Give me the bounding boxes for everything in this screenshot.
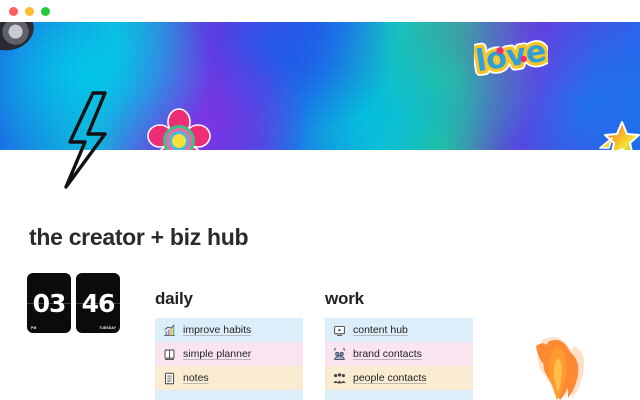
people-group-icon (333, 372, 346, 385)
flip-clock-minute: 46 TUESDAY (76, 273, 120, 333)
list-item-improve-habits[interactable]: improve habits (155, 318, 303, 342)
list-item-label: people contacts (353, 372, 427, 384)
flip-hinge (76, 303, 120, 304)
column-work: work content hub brand contacts (325, 289, 473, 400)
group-badge-icon (333, 348, 346, 361)
list-item-label: content hub (353, 324, 408, 336)
minimize-button[interactable] (25, 7, 34, 16)
chart-bar-icon (163, 324, 176, 337)
flame-graphic (512, 322, 616, 400)
flip-hinge (27, 303, 71, 304)
list-item-content-hub[interactable]: content hub (325, 318, 473, 342)
flip-clock-hour: 03 PM (27, 273, 71, 333)
close-button[interactable] (9, 7, 18, 16)
svg-text:love: love (474, 34, 548, 80)
page-title: the creator + biz hub (29, 224, 248, 251)
list-item-partial[interactable] (155, 390, 303, 400)
book-icon (163, 348, 176, 361)
list-item-people-contacts[interactable]: people contacts (325, 366, 473, 390)
flip-clock-weekday: TUESDAY (99, 326, 116, 330)
column-heading-daily: daily (155, 289, 303, 309)
flip-clock: 03 PM 46 TUESDAY (27, 273, 120, 333)
column-daily: daily improve habits simple planner (155, 289, 303, 400)
list-item-label: simple planner (183, 348, 251, 360)
lightning-bolt-icon (60, 90, 112, 190)
flip-clock-meridiem: PM (31, 326, 36, 330)
list-item-notes[interactable]: notes (155, 366, 303, 390)
window-chrome (0, 0, 640, 22)
flower-sticker (146, 108, 212, 150)
column-heading-work: work (325, 289, 473, 309)
video-play-icon (333, 324, 346, 337)
note-lines-icon (163, 372, 176, 385)
list-item-simple-planner[interactable]: simple planner (155, 342, 303, 366)
list-item-brand-contacts[interactable]: brand contacts (325, 342, 473, 366)
list-item-label: notes (183, 372, 209, 384)
love-sticker: love love love (474, 30, 548, 82)
list-item-partial[interactable] (325, 390, 473, 400)
maximize-button[interactable] (41, 7, 50, 16)
list-item-label: brand contacts (353, 348, 422, 360)
list-item-label: improve habits (183, 324, 251, 336)
shooting-star-sticker (598, 118, 640, 150)
